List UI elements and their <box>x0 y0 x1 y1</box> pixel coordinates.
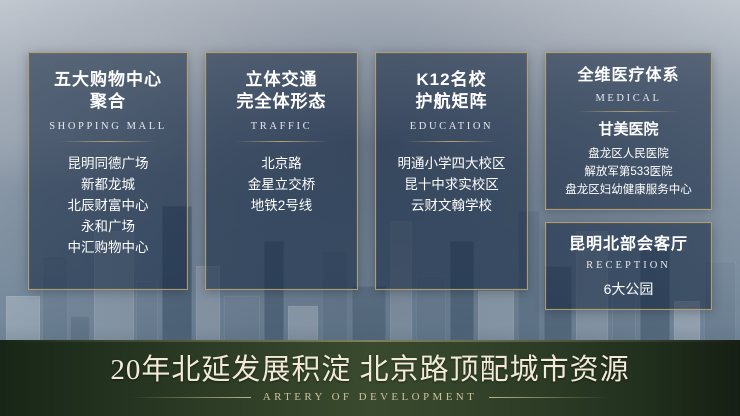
card-title: 五大购物中心 聚合 <box>29 69 187 113</box>
gold-divider <box>59 141 157 142</box>
footer-number: 20 <box>110 353 141 387</box>
gold-divider <box>235 141 329 142</box>
footer-rule-left <box>131 397 251 398</box>
card-body: 盘龙区人民医院 解放军第533医院 盘龙区妇幼健康服务中心 <box>546 145 711 199</box>
poster-canvas: 五大购物中心 聚合 SHOPPING MALL 昆明同德广场 新都龙城 北辰财富… <box>0 0 740 416</box>
card-highlight: 甘美医院 <box>546 120 711 140</box>
gold-divider <box>405 141 499 142</box>
card-body: 北京路 金星立交桥 地铁2号线 <box>206 153 357 216</box>
card-subtitle: RECEPTION <box>546 260 711 271</box>
card-medical: 全维医疗体系 MEDICAL 甘美医院 盘龙区人民医院 解放军第533医院 盘龙… <box>545 52 712 210</box>
card-title: 昆明北部会客厅 <box>546 234 711 256</box>
card-body: 昆明同德广场 新都龙城 北辰财富中心 永和广场 中汇购物中心 <box>29 153 187 258</box>
card-subtitle: EDUCATION <box>376 121 527 132</box>
footer-banner: 20年北延发展积淀 北京路顶配城市资源 ARTERY OF DEVELOPMEN… <box>0 340 740 416</box>
feature-card-group: 五大购物中心 聚合 SHOPPING MALL 昆明同德广场 新都龙城 北辰财富… <box>0 0 740 340</box>
card-subtitle: SHOPPING MALL <box>29 121 187 132</box>
footer-headline: 20年北延发展积淀 北京路顶配城市资源 <box>0 353 740 387</box>
card-shopping-mall: 五大购物中心 聚合 SHOPPING MALL 昆明同德广场 新都龙城 北辰财富… <box>28 52 188 290</box>
footer-subline: ARTERY OF DEVELOPMENT <box>263 391 478 403</box>
card-subtitle: MEDICAL <box>546 93 711 104</box>
card-title: 立体交通 完全体形态 <box>206 69 357 113</box>
card-body: 明通小学四大校区 昆十中求实校区 云财文翰学校 <box>376 153 527 216</box>
card-title: K12名校 护航矩阵 <box>376 69 527 113</box>
card-traffic: 立体交通 完全体形态 TRAFFIC 北京路 金星立交桥 地铁2号线 <box>205 52 358 290</box>
card-reception: 昆明北部会客厅 RECEPTION 6大公园 <box>545 222 712 310</box>
card-title: 全维医疗体系 <box>546 65 711 87</box>
card-education: K12名校 护航矩阵 EDUCATION 明通小学四大校区 昆十中求实校区 云财… <box>375 52 528 290</box>
footer-subline-group: ARTERY OF DEVELOPMENT <box>131 391 610 403</box>
card-body: 6大公园 <box>546 279 711 300</box>
footer-headline-text: 年北延发展积淀 北京路顶配城市资源 <box>141 353 629 387</box>
gold-divider <box>577 111 679 112</box>
footer-rule-right <box>489 397 609 398</box>
card-subtitle: TRAFFIC <box>206 121 357 132</box>
